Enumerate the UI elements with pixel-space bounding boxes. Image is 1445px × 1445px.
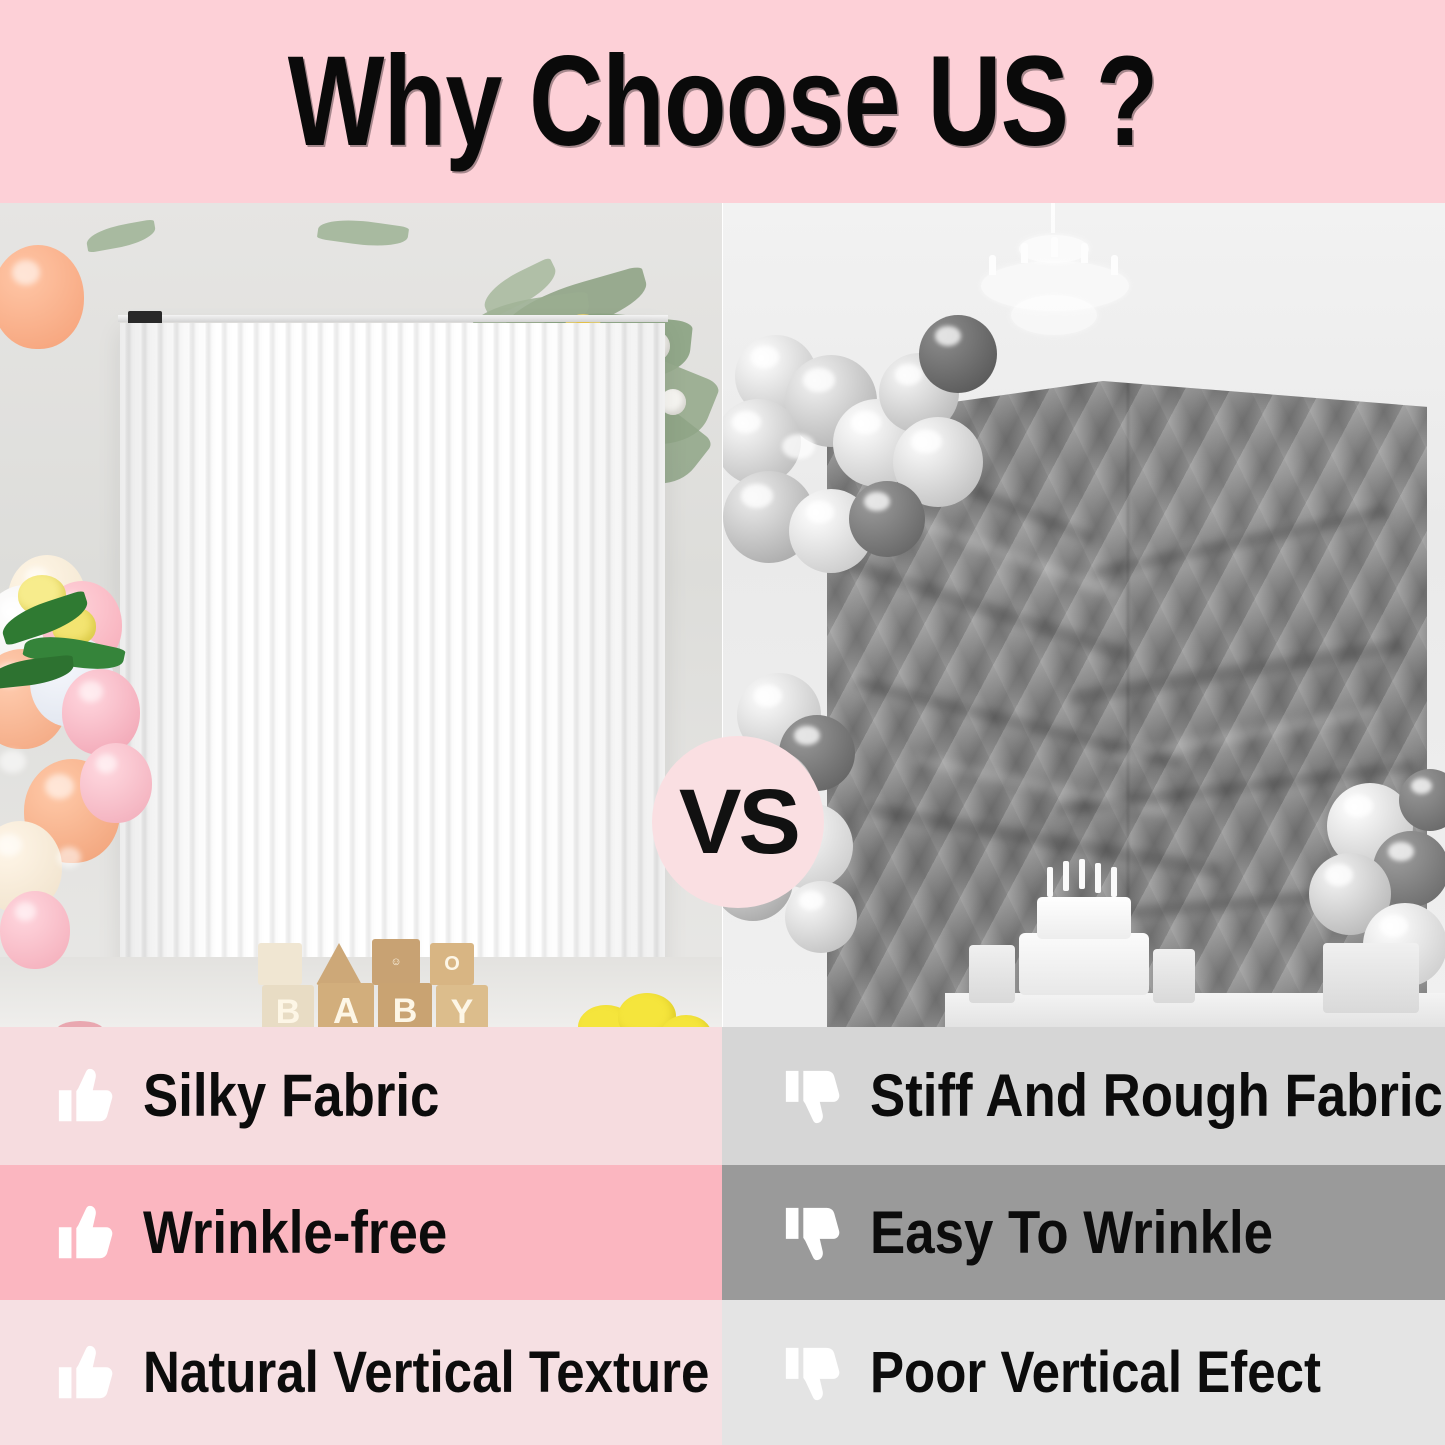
feature-row: Silky Fabric Stiff And Rough Fabric [0, 1027, 1445, 1165]
right-product-photo [723, 203, 1445, 1027]
curtain-rod [118, 315, 668, 322]
chair [1323, 943, 1419, 1013]
feature-label: Silky Fabric [143, 1066, 439, 1126]
feature-label: Stiff And Rough Fabric [870, 1066, 1443, 1126]
vs-badge: VS [652, 736, 824, 908]
feature-row: Natural Vertical Texture Poor Vertical E… [0, 1300, 1445, 1445]
thumbs-up-icon [55, 1202, 117, 1264]
thumbs-down-icon [782, 1202, 844, 1264]
con-cell: Poor Vertical Efect [722, 1300, 1445, 1445]
thumbs-down-icon [782, 1065, 844, 1127]
feature-label: Wrinkle-free [143, 1203, 447, 1263]
chair [1153, 949, 1195, 1003]
thumbs-up-icon [55, 1065, 117, 1127]
birthday-cake [1019, 933, 1149, 995]
chandelier-icon [959, 203, 1149, 349]
feature-label: Poor Vertical Efect [870, 1344, 1321, 1402]
pro-cell: Wrinkle-free [0, 1165, 722, 1300]
con-cell: Stiff And Rough Fabric [722, 1027, 1445, 1165]
chair [969, 945, 1015, 1003]
feature-label: Easy To Wrinkle [870, 1203, 1273, 1263]
feature-row: Wrinkle-free Easy To Wrinkle [0, 1165, 1445, 1300]
comparison-photo-strip: ☺ O B A B Y [0, 203, 1445, 1027]
con-cell: Easy To Wrinkle [722, 1165, 1445, 1300]
infographic-page: Why Choose US ? [0, 0, 1445, 1445]
pro-cell: Silky Fabric [0, 1027, 722, 1165]
page-title: Why Choose US ? [288, 38, 1158, 166]
pro-cell: Natural Vertical Texture [0, 1300, 722, 1445]
left-product-photo: ☺ O B A B Y [0, 203, 722, 1027]
comparison-feature-rows: Silky Fabric Stiff And Rough Fabric Wrin… [0, 1027, 1445, 1445]
thumbs-down-icon [782, 1342, 844, 1404]
balloon [0, 245, 84, 349]
vs-label: VS [678, 776, 797, 868]
white-silky-curtain [120, 323, 665, 1013]
thumbs-up-icon [55, 1342, 117, 1404]
header-banner: Why Choose US ? [0, 0, 1445, 203]
feature-label: Natural Vertical Texture [143, 1344, 709, 1402]
